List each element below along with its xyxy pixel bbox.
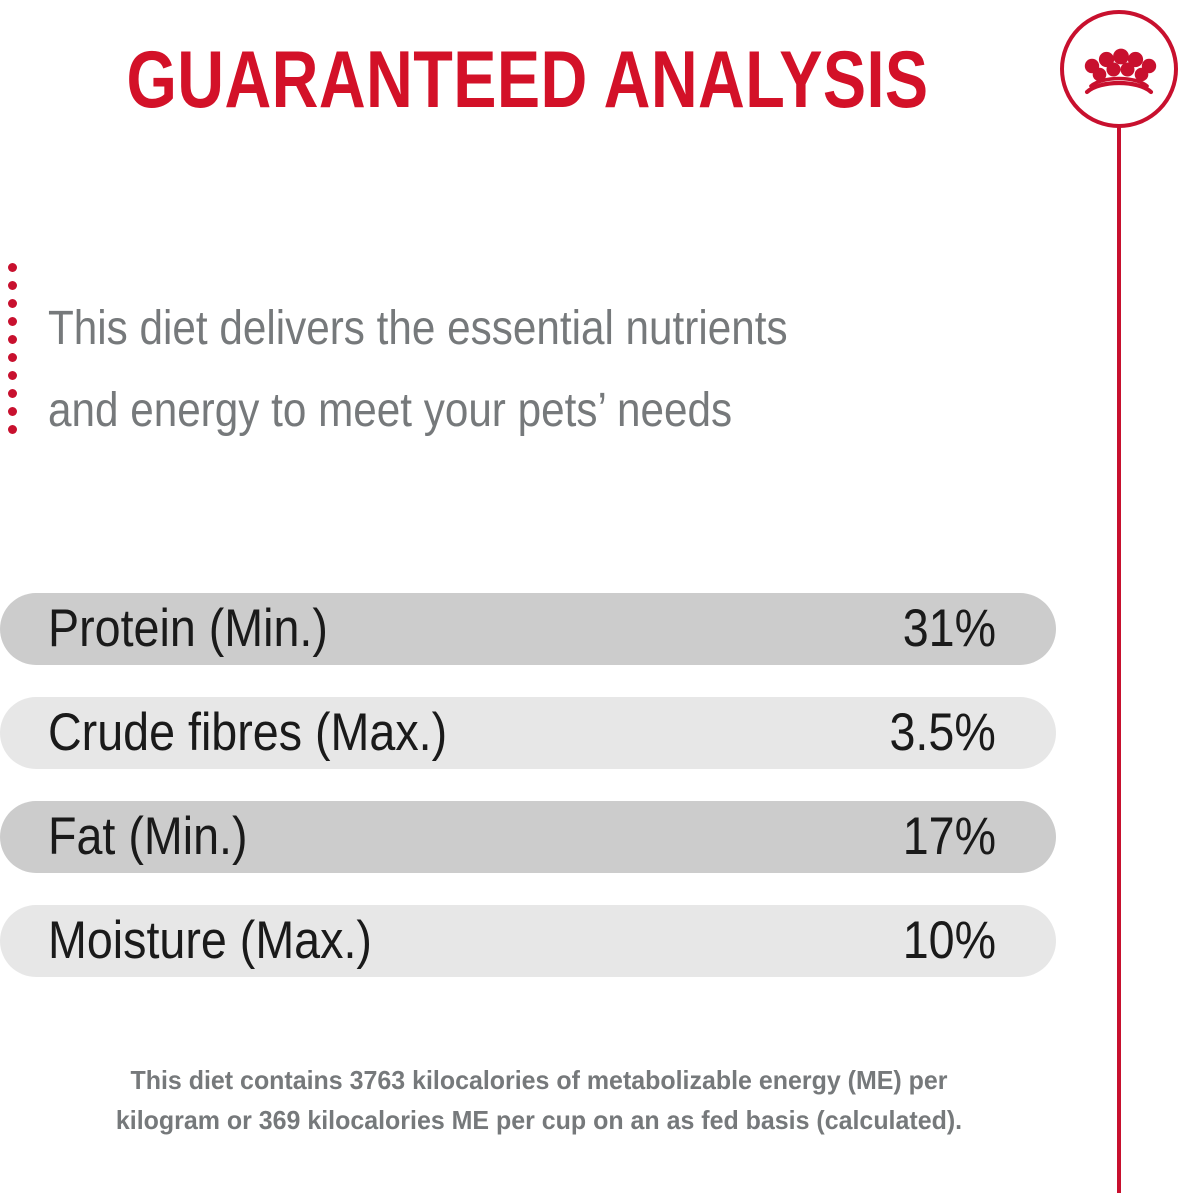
crown-icon (1080, 43, 1158, 95)
rail-dot (8, 389, 17, 398)
nutrient-value: 3.5% (890, 705, 996, 761)
table-row: Fat (Min.) 17% (0, 801, 1056, 873)
rail-dot (8, 371, 17, 380)
table-row: Crude fibres (Max.) 3.5% (0, 697, 1056, 769)
dotted-accent-rail (8, 263, 17, 449)
rail-dot (8, 299, 17, 308)
rail-dot (8, 353, 17, 362)
nutrient-value: 10% (903, 913, 996, 969)
rail-dot (8, 407, 17, 416)
rail-dot (8, 425, 17, 434)
rail-dot (8, 335, 17, 344)
nutrient-label: Crude fibres (Max.) (48, 705, 776, 761)
rail-dot (8, 317, 17, 326)
intro-text: This diet delivers the essential nutrien… (48, 288, 928, 452)
royal-canin-logo (1060, 10, 1178, 128)
energy-footnote: This diet contains 3763 kilocalories of … (48, 1060, 1029, 1140)
page-title: GUARANTEED ANALYSIS (106, 36, 950, 124)
guaranteed-analysis-panel: GUARANTEED ANALYSIS This diet delivers t… (0, 0, 1182, 1200)
intro-line-2: and energy to meet your pets’ needs (48, 370, 928, 452)
nutrient-table: Protein (Min.) 31% Crude fibres (Max.) 3… (0, 593, 1056, 1009)
table-row: Moisture (Max.) 10% (0, 905, 1056, 977)
footnote-line-1: This diet contains 3763 kilocalories of … (48, 1060, 1029, 1100)
rail-dot (8, 263, 17, 272)
logo-stem-line (1117, 126, 1121, 1193)
rail-dot (8, 281, 17, 290)
nutrient-label: Protein (Min.) (48, 601, 789, 657)
table-row: Protein (Min.) 31% (0, 593, 1056, 665)
intro-line-1: This diet delivers the essential nutrien… (48, 288, 928, 370)
nutrient-label: Moisture (Max.) (48, 913, 789, 969)
nutrient-value: 17% (903, 809, 996, 865)
nutrient-value: 31% (903, 601, 996, 657)
footnote-line-2: kilogram or 369 kilocalories ME per cup … (48, 1100, 1029, 1140)
nutrient-label: Fat (Min.) (48, 809, 789, 865)
